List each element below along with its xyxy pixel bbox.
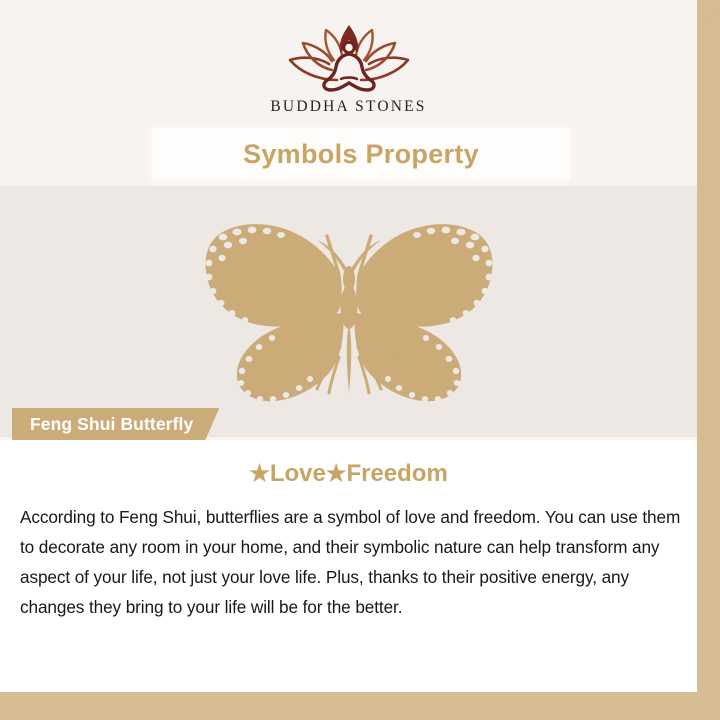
description-section: ★Love★Freedom According to Feng Shui, bu… [0,440,697,692]
page-title: Symbols Property [243,139,479,170]
brand-logo: BUDDHA STONES [0,22,697,116]
page-root: BUDDHA STONES Symbols Property [0,0,720,720]
subheading: ★Love★Freedom [0,462,697,486]
subheading-word-love: Love [270,460,326,487]
illustration-panel [0,186,697,437]
subheading-word-freedom: Freedom [346,460,447,487]
star-icon-mid: ★ [326,460,347,486]
tag-label: Feng Shui Butterfly [30,414,193,435]
feng-shui-butterfly-tag: Feng Shui Butterfly [12,408,219,440]
butterfly-icon [189,207,509,417]
lotus-meditation-icon [274,22,424,92]
content-sheet: BUDDHA STONES Symbols Property [0,0,697,692]
star-icon-left: ★ [249,460,270,486]
description-paragraph: According to Feng Shui, butterflies are … [20,502,692,622]
title-banner: Symbols Property [152,128,570,180]
brand-name: BUDDHA STONES [270,98,426,116]
